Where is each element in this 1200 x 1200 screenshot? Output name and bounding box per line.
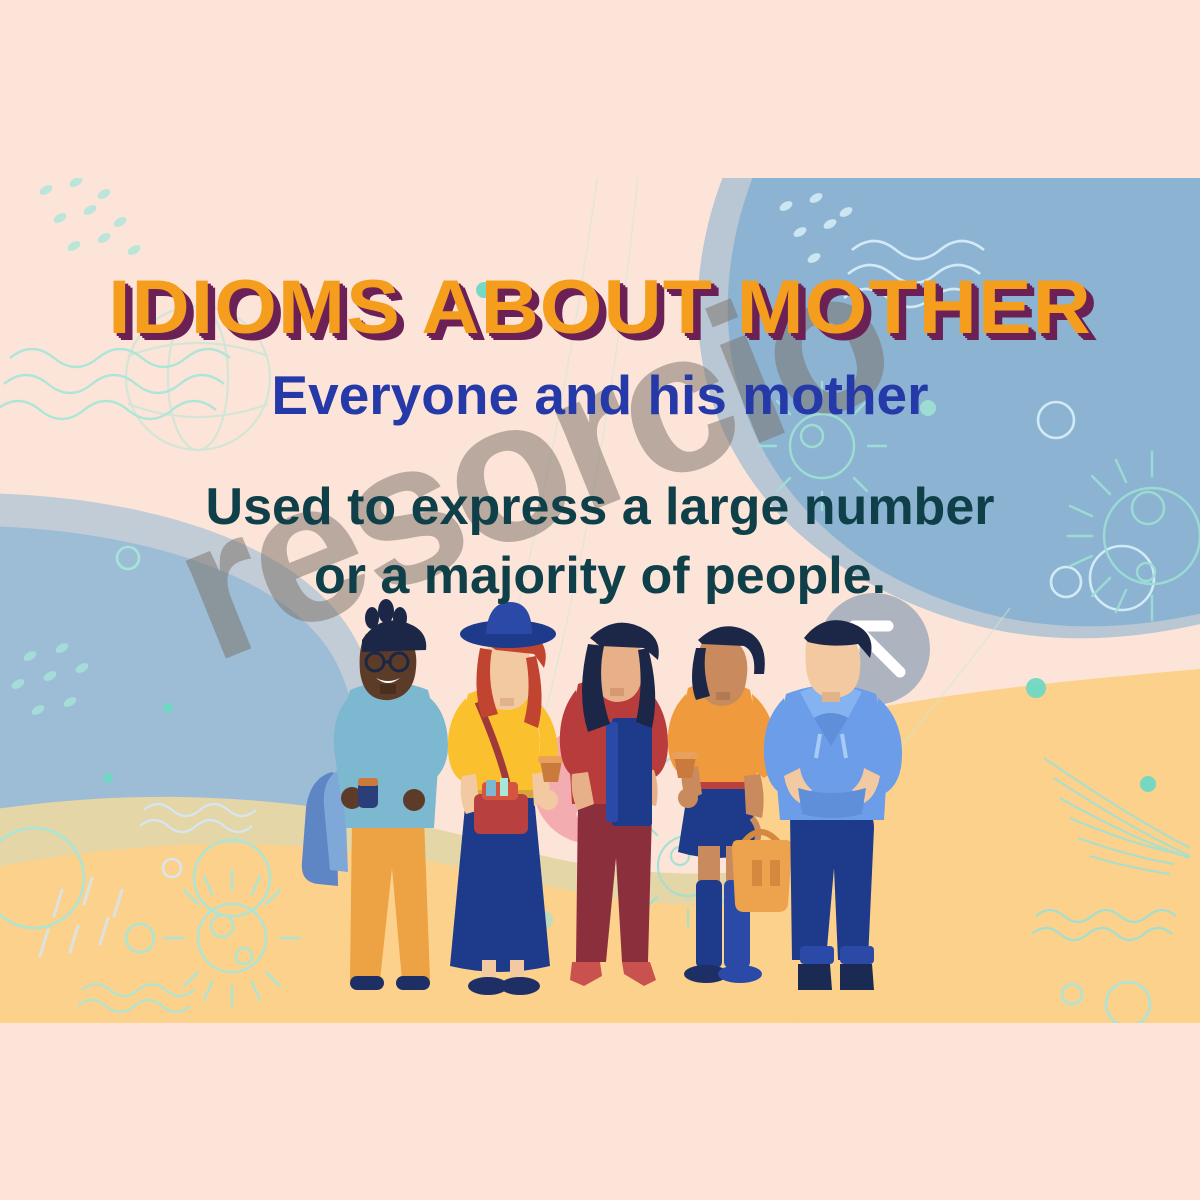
people-illustration [0, 178, 1200, 1023]
figure-woman-with-book [560, 623, 668, 986]
figure-man-with-backpack [302, 599, 448, 990]
figure-man-in-hoodie [764, 620, 902, 990]
idiom-card: resorcio [0, 178, 1200, 1023]
page-root: resorcio [0, 0, 1200, 1200]
people-group-svg [0, 178, 1200, 1023]
figure-woman-with-hat [448, 602, 564, 995]
figure-woman-with-bag [668, 626, 792, 983]
